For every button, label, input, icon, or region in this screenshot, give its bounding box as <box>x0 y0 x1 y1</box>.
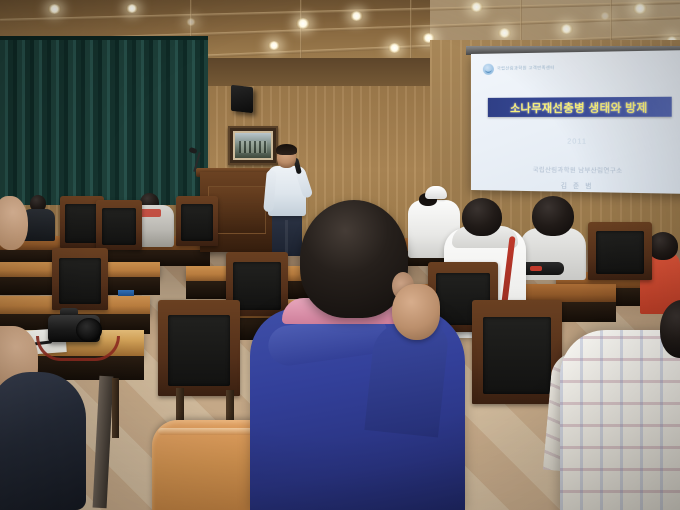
chair-pad <box>233 262 280 309</box>
recessed-downlight <box>126 4 138 13</box>
chair <box>176 196 218 246</box>
slide-title-bar: 소나무재선충병 생태와 방제 <box>488 97 672 117</box>
chair-pad <box>181 204 213 241</box>
chair-pad <box>168 315 230 386</box>
recessed-downlight <box>498 28 511 38</box>
hoodie-logo <box>140 209 161 217</box>
slide-title: 소나무재선충병 생태와 방제 <box>510 98 648 115</box>
chair <box>472 300 562 404</box>
dark-green-curtain <box>0 40 208 205</box>
attendee-head <box>300 200 408 318</box>
presenter-legs <box>272 214 302 256</box>
wall-mounted-speaker <box>231 85 253 113</box>
desk-item-red-accent <box>530 266 542 271</box>
chair-pad <box>483 317 551 394</box>
recessed-downlight <box>350 11 363 21</box>
recessed-downlight <box>560 24 573 34</box>
white-cap <box>425 186 447 199</box>
attendee-head <box>532 196 574 236</box>
picture-image <box>235 133 271 158</box>
recessed-downlight <box>388 43 401 53</box>
chair <box>588 222 652 280</box>
attendee-head <box>648 232 678 260</box>
chair-pad <box>102 208 137 245</box>
slide-presenter-name: 김 준 범 <box>471 178 680 192</box>
institute-logo-icon <box>483 64 494 75</box>
table-leg <box>112 378 119 438</box>
slide-organization: 국립산림과학원 남부산림연구소 <box>471 164 680 176</box>
projection-screen: 국립산림과학원 고객만족센터 소나무재선충병 생태와 방제 2011 국립산림과… <box>471 50 680 194</box>
chair <box>158 300 240 396</box>
attendee-leg-left-edge <box>0 372 86 510</box>
presenter-hair <box>276 144 297 155</box>
chair <box>96 200 142 250</box>
chair-pad <box>596 231 645 274</box>
chair-pad <box>65 204 98 242</box>
recessed-downlight <box>186 18 196 26</box>
chair <box>52 248 108 310</box>
attendee-head <box>462 198 502 236</box>
attendee-plaid-shirt-foreground-right <box>560 330 680 510</box>
recessed-downlight <box>470 2 483 12</box>
camera-lens <box>76 318 102 342</box>
slide-date: 2011 <box>471 138 680 146</box>
attendee-hand <box>392 284 440 340</box>
recessed-downlight <box>268 41 280 50</box>
recessed-downlight <box>48 4 61 14</box>
ceiling-beam <box>300 0 302 66</box>
chair-pad <box>59 258 102 304</box>
framed-landscape-photo <box>228 126 278 165</box>
slide-logo: 국립산림과학원 고객만족센터 <box>483 63 555 75</box>
recessed-downlight <box>633 3 647 14</box>
recessed-downlight <box>600 12 610 20</box>
recessed-downlight <box>296 18 310 29</box>
photo-scene: 국립산림과학원 고객만족센터 소나무재선충병 생태와 방제 2011 국립산림과… <box>0 0 680 510</box>
slide-logo-text: 국립산림과학원 고객만족센터 <box>497 66 555 71</box>
